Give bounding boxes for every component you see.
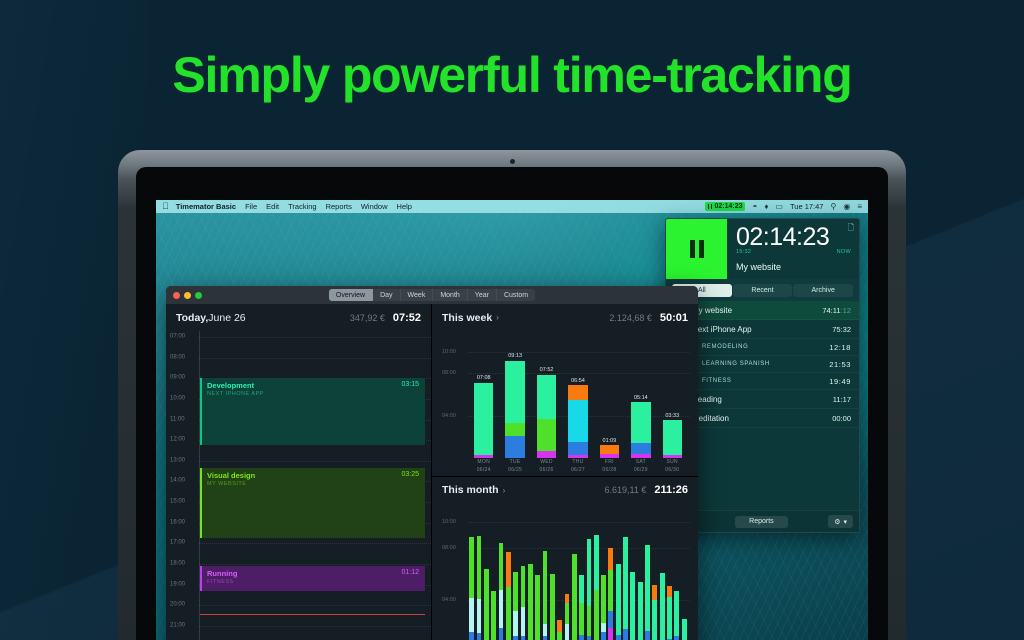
mac-menu-bar:  Timemator Basic File Edit Tracking Rep… bbox=[156, 200, 868, 213]
timeline-entry[interactable]: DevelopmentNEXT IPHONE APP03:15 bbox=[200, 378, 425, 445]
bar-segment bbox=[616, 635, 621, 640]
zoom-button[interactable] bbox=[195, 292, 202, 299]
bar-segment bbox=[631, 443, 650, 454]
bar-segment bbox=[469, 598, 474, 632]
bar-total-label: 06:54 bbox=[571, 378, 585, 384]
chart-bar-slot[interactable]: 05:14 bbox=[625, 395, 656, 459]
control-center-icon[interactable]: ≡ bbox=[857, 202, 862, 211]
bar-segment bbox=[601, 632, 606, 640]
bar-segment bbox=[513, 611, 518, 636]
chart-bar-slot[interactable] bbox=[681, 619, 688, 640]
bar-segment bbox=[521, 636, 526, 640]
chart-bar-slot[interactable] bbox=[519, 566, 526, 640]
bar-segment bbox=[499, 590, 504, 628]
bar-segment bbox=[537, 451, 556, 458]
reports-button[interactable]: Reports bbox=[735, 516, 788, 528]
timeline-hour-label: 20:00 bbox=[170, 602, 185, 608]
task-duration: 75:32 bbox=[832, 325, 851, 334]
month-chart-area: 10:0008:0004:000103050709111315171921232… bbox=[432, 503, 698, 640]
chart-bar bbox=[535, 575, 540, 640]
tracker-tab-archive[interactable]: Archive bbox=[793, 284, 853, 297]
chart-bar-slot[interactable] bbox=[527, 564, 534, 640]
chart-bar-slot[interactable] bbox=[585, 539, 592, 640]
week-header[interactable]: This week › 2.124,68 € 50:01 bbox=[432, 304, 698, 331]
timeline-gridline bbox=[199, 543, 431, 544]
chart-bar bbox=[557, 620, 562, 640]
bar-segment bbox=[505, 423, 524, 436]
settings-button[interactable]: ⚙ ▾ bbox=[828, 515, 853, 528]
bar-segment bbox=[513, 636, 518, 640]
pause-icon bbox=[690, 240, 704, 258]
chart-bar-slot[interactable] bbox=[505, 552, 512, 640]
entry-title: Visual design bbox=[207, 471, 420, 480]
menubar-clock[interactable]: Tue 17:47 bbox=[790, 202, 824, 211]
bar-segment bbox=[645, 545, 650, 630]
note-icon[interactable]: 🗋 bbox=[848, 222, 854, 236]
bar-segment bbox=[645, 631, 650, 640]
timeline-entry[interactable]: RunningFITNESS01:12 bbox=[200, 566, 425, 592]
tab-overview[interactable]: Overview bbox=[329, 289, 373, 301]
traffic-lights bbox=[173, 292, 202, 299]
timeline-hour-label: 13:00 bbox=[170, 457, 185, 463]
bar-segment bbox=[594, 535, 599, 590]
task-name: REMODELING bbox=[702, 344, 748, 350]
chart-bar bbox=[660, 573, 665, 640]
bar-segment bbox=[572, 554, 577, 640]
entry-subtitle: NEXT IPHONE APP bbox=[207, 391, 420, 397]
window-body: Today, June 26 347,92 € 07:52 07:0008:00… bbox=[166, 304, 698, 640]
tab-day[interactable]: Day bbox=[373, 289, 400, 301]
chart-bar bbox=[565, 594, 570, 640]
chart-bar-slot[interactable] bbox=[600, 575, 607, 640]
battery-icon[interactable]: ▭ bbox=[775, 202, 783, 211]
chart-bar bbox=[568, 385, 587, 458]
bar-segment bbox=[674, 636, 679, 640]
bar-segment bbox=[521, 566, 526, 607]
chart-bar bbox=[682, 619, 687, 640]
week-title: This week bbox=[442, 312, 492, 324]
timeline-gridline bbox=[199, 337, 431, 338]
chevron-down-icon: ▾ bbox=[843, 518, 847, 526]
timeline-hour-label: 07:00 bbox=[170, 334, 185, 340]
today-date: June 26 bbox=[208, 312, 245, 324]
day-timeline[interactable]: 07:0008:0009:0010:0011:0012:0013:0014:00… bbox=[166, 331, 431, 640]
tab-week[interactable]: Week bbox=[401, 289, 434, 301]
bar-segment bbox=[506, 552, 511, 587]
bar-segment bbox=[521, 607, 526, 636]
bar-segment bbox=[667, 586, 672, 597]
chart-x-label: MON06/24 bbox=[468, 459, 499, 474]
bar-segment bbox=[638, 582, 643, 640]
bar-segment bbox=[674, 591, 679, 636]
entry-subtitle: FITNESS bbox=[207, 579, 420, 585]
chart-bar-slot[interactable] bbox=[475, 536, 482, 640]
bar-segment bbox=[491, 591, 496, 640]
bar-segment bbox=[499, 543, 504, 590]
bar-segment bbox=[469, 632, 474, 640]
task-duration: 11:17 bbox=[833, 395, 851, 404]
today-header: Today, June 26 347,92 € 07:52 bbox=[166, 304, 431, 331]
chart-bar bbox=[630, 572, 635, 640]
bar-total-label: 03:33 bbox=[665, 413, 679, 419]
bar-segment bbox=[543, 636, 548, 640]
task-name: LEARNING SPANISH bbox=[702, 361, 770, 367]
apple-icon[interactable]:  bbox=[162, 202, 169, 211]
chart-bar-slot[interactable]: 03:33 bbox=[657, 413, 688, 458]
bar-segment bbox=[623, 537, 628, 629]
chart-bar bbox=[521, 566, 526, 640]
chart-x-labels: MON06/24TUE06/25WED06/26THU06/27FRI06/28… bbox=[468, 459, 688, 474]
task-name: My website bbox=[692, 306, 732, 315]
bar-segment bbox=[587, 539, 592, 606]
bar-total-label: 07:08 bbox=[477, 375, 491, 381]
timeline-hour-label: 08:00 bbox=[170, 354, 185, 360]
timeline-gridline bbox=[199, 461, 431, 462]
menu-item-help[interactable]: Help bbox=[397, 202, 412, 211]
menu-item-window[interactable]: Window bbox=[361, 202, 388, 211]
bar-segment bbox=[499, 628, 504, 640]
bar-segment bbox=[579, 575, 584, 603]
bar-total-label: 09:13 bbox=[508, 353, 522, 359]
timeline-hour-label: 11:00 bbox=[170, 416, 185, 422]
close-button[interactable] bbox=[173, 292, 180, 299]
bar-segment bbox=[631, 454, 650, 458]
bar-segment bbox=[477, 633, 482, 640]
timeline-entry[interactable]: Visual designMY WEBSITE03:25 bbox=[200, 468, 425, 538]
bar-segment bbox=[594, 590, 599, 640]
month-earnings: 6.619,11 € bbox=[604, 485, 646, 495]
bar-segment bbox=[616, 564, 621, 635]
period-tabs: OverviewDayWeekMonthYearCustom bbox=[329, 289, 535, 301]
menu-item-tracking[interactable]: Tracking bbox=[288, 202, 316, 211]
minimize-button[interactable] bbox=[184, 292, 191, 299]
bar-segment bbox=[682, 619, 687, 640]
chart-y-label: 04:00 bbox=[442, 597, 456, 603]
bar-segment bbox=[543, 624, 548, 636]
chart-bar bbox=[601, 575, 606, 640]
chart-bars bbox=[468, 515, 688, 640]
entry-title: Running bbox=[207, 569, 420, 578]
bar-segment bbox=[474, 383, 493, 455]
chart-bar-slot[interactable] bbox=[651, 585, 658, 640]
laptop-mockup:  Timemator Basic File Edit Tracking Rep… bbox=[118, 150, 906, 640]
bar-segment bbox=[550, 574, 555, 640]
gear-icon: ⚙ bbox=[834, 518, 840, 526]
chevron-right-icon[interactable]: › bbox=[496, 313, 499, 322]
month-title: This month bbox=[442, 484, 499, 496]
chart-bar-slot[interactable] bbox=[563, 594, 570, 640]
month-header[interactable]: This month › 6.619,11 € 211:26 bbox=[432, 476, 698, 503]
tracker-time-block: 🗋 02:14:23 15:32 NOW My website bbox=[727, 219, 859, 279]
chart-bar bbox=[663, 420, 682, 458]
bar-segment bbox=[568, 385, 587, 400]
bar-segment bbox=[469, 537, 474, 597]
bar-segment bbox=[600, 445, 619, 454]
timeline-hour-label: 19:00 bbox=[170, 581, 185, 587]
page-title: Simply powerful time-tracking bbox=[0, 46, 1024, 104]
bar-segment bbox=[652, 600, 657, 640]
bar-segment bbox=[565, 624, 570, 640]
week-chart-area: 10:0008:0004:0007:0809:1307:5206:5401:09… bbox=[432, 331, 698, 476]
bar-segment bbox=[537, 419, 556, 451]
entry-duration: 03:15 bbox=[401, 381, 419, 388]
bar-segment bbox=[623, 629, 628, 640]
month-duration: 211:26 bbox=[654, 484, 688, 496]
week-bar-chart: 10:0008:0004:0007:0809:1307:5206:5401:09… bbox=[440, 337, 690, 474]
bar-segment bbox=[557, 620, 562, 632]
task-duration: 19:49 bbox=[829, 377, 851, 386]
siri-icon[interactable]: ◉ bbox=[843, 202, 850, 211]
chart-y-label: 10:00 bbox=[442, 349, 456, 355]
chart-bar-slot[interactable] bbox=[622, 537, 629, 640]
bar-segment bbox=[565, 603, 570, 624]
tab-month[interactable]: Month bbox=[433, 289, 467, 301]
chart-x-label: THU06/27 bbox=[562, 459, 593, 474]
task-duration: 21:53 bbox=[829, 360, 851, 369]
chart-bar-slot[interactable] bbox=[607, 548, 614, 640]
bar-segment bbox=[631, 402, 650, 443]
chart-bar bbox=[600, 445, 619, 458]
week-duration: 50:01 bbox=[660, 312, 688, 324]
chart-bar bbox=[484, 569, 489, 640]
chart-bar bbox=[572, 554, 577, 640]
bar-segment bbox=[663, 455, 682, 458]
tracker-now-label: NOW bbox=[837, 249, 851, 255]
chart-bar bbox=[513, 572, 518, 640]
chart-bar-slot[interactable] bbox=[629, 572, 636, 640]
bar-segment bbox=[587, 606, 592, 636]
chart-y-label: 04:00 bbox=[442, 413, 456, 419]
bar-segment bbox=[484, 569, 489, 640]
chart-x-label: SAT06/29 bbox=[625, 459, 656, 474]
timeline-hour-label: 12:00 bbox=[170, 437, 185, 443]
entry-duration: 01:12 bbox=[401, 569, 419, 576]
chart-bar-slot[interactable] bbox=[483, 569, 490, 640]
bar-segment bbox=[667, 597, 672, 639]
week-earnings: 2.124,68 € bbox=[609, 313, 652, 323]
bar-segment bbox=[608, 570, 613, 611]
wifi-icon[interactable]: ◓ bbox=[752, 202, 757, 211]
bar-segment bbox=[477, 536, 482, 599]
menu-item-app[interactable]: Timemator Basic bbox=[176, 202, 236, 211]
chart-bar bbox=[587, 539, 592, 640]
chart-bar-slot[interactable] bbox=[673, 591, 680, 640]
chart-bar bbox=[667, 586, 672, 640]
chart-x-label: WED06/26 bbox=[531, 459, 562, 474]
chart-bar-slot[interactable] bbox=[637, 582, 644, 640]
bar-segment bbox=[568, 400, 587, 442]
chart-x-label: FRI06/28 bbox=[594, 459, 625, 474]
timeline-hour-label: 16:00 bbox=[170, 519, 185, 525]
current-time-indicator bbox=[200, 614, 425, 615]
charts-column: This week › 2.124,68 € 50:01 10:0008:000… bbox=[432, 304, 698, 640]
pause-icon bbox=[708, 204, 713, 209]
today-label: Today, bbox=[176, 312, 208, 324]
chart-bar-slot[interactable] bbox=[497, 543, 504, 640]
chart-bar bbox=[674, 591, 679, 640]
bar-segment bbox=[537, 375, 556, 419]
bar-segment bbox=[568, 455, 587, 458]
timeline-hour-label: 09:00 bbox=[170, 375, 185, 381]
chart-bar bbox=[505, 361, 524, 458]
today-column: Today, June 26 347,92 € 07:52 07:0008:00… bbox=[166, 304, 432, 640]
menu-item-edit[interactable]: Edit bbox=[266, 202, 279, 211]
chart-y-label: 08:00 bbox=[442, 545, 456, 551]
chart-bar bbox=[638, 582, 643, 640]
chart-bar bbox=[537, 375, 556, 458]
tracker-tab-recent[interactable]: Recent bbox=[733, 284, 793, 297]
bar-segment bbox=[565, 594, 570, 603]
bar-segment bbox=[506, 587, 511, 640]
chart-y-label: 10:00 bbox=[442, 519, 456, 525]
bar-segment bbox=[600, 454, 619, 458]
chart-bar-slot[interactable] bbox=[571, 554, 578, 640]
main-window: OverviewDayWeekMonthYearCustom Today, Ju… bbox=[166, 286, 698, 640]
menubar-timer[interactable]: 02:14:23 bbox=[705, 202, 746, 211]
month-bar-chart: 10:0008:0004:000103050709111315171921232… bbox=[440, 509, 690, 640]
chart-x-label: SUN06/30 bbox=[657, 459, 688, 474]
timeline-hour-label: 18:00 bbox=[170, 560, 185, 566]
bar-segment bbox=[543, 551, 548, 625]
bar-segment bbox=[663, 420, 682, 455]
chart-bar-slot[interactable] bbox=[556, 620, 563, 640]
search-icon[interactable]: ⚲ bbox=[830, 202, 836, 211]
menu-item-file[interactable]: File bbox=[245, 202, 257, 211]
bar-segment bbox=[608, 611, 613, 628]
tab-year[interactable]: Year bbox=[468, 289, 497, 301]
bar-segment bbox=[579, 603, 584, 635]
task-duration: 12:18 bbox=[829, 343, 851, 352]
chart-bar-slot[interactable] bbox=[666, 586, 673, 640]
bar-segment bbox=[660, 573, 665, 640]
chart-bar bbox=[616, 564, 621, 640]
chart-bar-slot[interactable] bbox=[534, 575, 541, 640]
tab-custom[interactable]: Custom bbox=[497, 289, 535, 301]
chart-bar-slot[interactable]: 01:09 bbox=[594, 438, 625, 458]
bar-segment bbox=[630, 572, 635, 640]
chart-bar bbox=[608, 548, 613, 640]
entry-duration: 03:25 bbox=[401, 471, 419, 478]
chart-bar-slot[interactable]: 07:08 bbox=[468, 375, 499, 458]
chart-bar bbox=[528, 564, 533, 640]
pause-button[interactable] bbox=[666, 219, 727, 279]
chart-x-label: TUE06/25 bbox=[499, 459, 530, 474]
task-name: FITNESS bbox=[702, 378, 732, 384]
chart-bar-slot[interactable] bbox=[549, 574, 556, 640]
bar-segment bbox=[601, 623, 606, 632]
chart-bar bbox=[506, 552, 511, 640]
chart-bar-slot[interactable]: 09:13 bbox=[499, 353, 530, 458]
bar-total-label: 07:52 bbox=[540, 367, 554, 373]
chart-bar bbox=[631, 402, 650, 458]
bar-total-label: 01:09 bbox=[603, 438, 617, 444]
laptop-bezel:  Timemator Basic File Edit Tracking Rep… bbox=[136, 167, 888, 640]
bar-segment bbox=[608, 548, 613, 570]
chart-bar bbox=[477, 536, 482, 640]
menu-item-reports[interactable]: Reports bbox=[326, 202, 352, 211]
bar-segment bbox=[535, 575, 540, 640]
chart-bar bbox=[474, 383, 493, 458]
menubar-timer-value: 02:14:23 bbox=[714, 203, 742, 210]
bar-segment bbox=[513, 572, 518, 611]
bar-segment bbox=[557, 632, 562, 640]
timeline-hour-label: 14:00 bbox=[170, 478, 185, 484]
today-duration: 07:52 bbox=[393, 312, 421, 324]
bluetooth-icon[interactable]: ♦ bbox=[764, 202, 768, 211]
timeline-gridline bbox=[199, 605, 431, 606]
timeline-hour-label: 17:00 bbox=[170, 540, 185, 546]
chart-bar-slot[interactable] bbox=[490, 591, 497, 640]
timeline-hour-label: 21:00 bbox=[170, 622, 185, 628]
screen:  Timemator Basic File Edit Tracking Rep… bbox=[156, 200, 868, 640]
chart-bar bbox=[491, 591, 496, 640]
bar-segment bbox=[579, 635, 584, 640]
tracker-task-name: My website bbox=[736, 262, 851, 272]
bar-segment bbox=[505, 436, 524, 458]
today-earnings: 347,92 € bbox=[350, 313, 385, 323]
timeline-hour-label: 10:00 bbox=[170, 395, 185, 401]
timeline-hour-label: 15:00 bbox=[170, 499, 185, 505]
chart-bar bbox=[645, 545, 650, 640]
task-duration: 74:11:12 bbox=[822, 306, 851, 315]
tracker-elapsed: 02:14:23 bbox=[736, 224, 851, 250]
bar-total-label: 05:14 bbox=[634, 395, 648, 401]
chart-bar bbox=[550, 574, 555, 640]
chart-bar bbox=[499, 543, 504, 640]
bar-segment bbox=[601, 575, 606, 622]
chart-bar-slot[interactable] bbox=[659, 573, 666, 640]
bar-segment bbox=[587, 636, 592, 640]
chart-y-label: 08:00 bbox=[442, 370, 456, 376]
bar-segment bbox=[568, 442, 587, 455]
bar-segment bbox=[477, 599, 482, 633]
bar-segment bbox=[505, 361, 524, 423]
chart-bar bbox=[579, 575, 584, 640]
chevron-right-icon[interactable]: › bbox=[503, 486, 506, 495]
entry-title: Development bbox=[207, 381, 420, 390]
chart-bar-slot[interactable] bbox=[615, 564, 622, 640]
chart-bar bbox=[469, 537, 474, 640]
chart-bars: 07:0809:1307:5206:5401:0905:1403:33 bbox=[468, 347, 688, 458]
chart-bar bbox=[623, 537, 628, 640]
chart-bar-slot[interactable] bbox=[578, 575, 585, 640]
chart-bar-slot[interactable] bbox=[644, 545, 651, 640]
chart-bar-slot[interactable] bbox=[593, 535, 600, 640]
chart-bar-slot[interactable]: 07:52 bbox=[531, 367, 562, 458]
chart-bar-slot[interactable] bbox=[541, 551, 548, 640]
bar-segment bbox=[528, 564, 533, 640]
tracker-header: 🗋 02:14:23 15:32 NOW My website bbox=[666, 219, 859, 279]
chart-bar-slot[interactable]: 06:54 bbox=[562, 378, 593, 458]
timeline-gridline bbox=[199, 626, 431, 627]
bar-segment bbox=[474, 455, 493, 458]
bar-segment bbox=[608, 628, 613, 640]
chart-bar-slot[interactable] bbox=[512, 572, 519, 640]
bar-segment bbox=[652, 585, 657, 601]
chart-bar bbox=[594, 535, 599, 640]
task-duration: 00:00 bbox=[832, 414, 851, 423]
timeline-gridline bbox=[199, 358, 431, 359]
entry-subtitle: MY WEBSITE bbox=[207, 481, 420, 487]
webcam-icon bbox=[510, 159, 515, 164]
tracker-start-time: 15:32 bbox=[736, 249, 751, 255]
chart-bar-slot[interactable] bbox=[468, 537, 475, 640]
laptop-shell:  Timemator Basic File Edit Tracking Rep… bbox=[118, 150, 906, 640]
window-titlebar: OverviewDayWeekMonthYearCustom bbox=[166, 286, 698, 304]
chart-bar bbox=[543, 551, 548, 640]
chart-bar bbox=[652, 585, 657, 640]
task-name: Next iPhone App bbox=[692, 325, 752, 334]
